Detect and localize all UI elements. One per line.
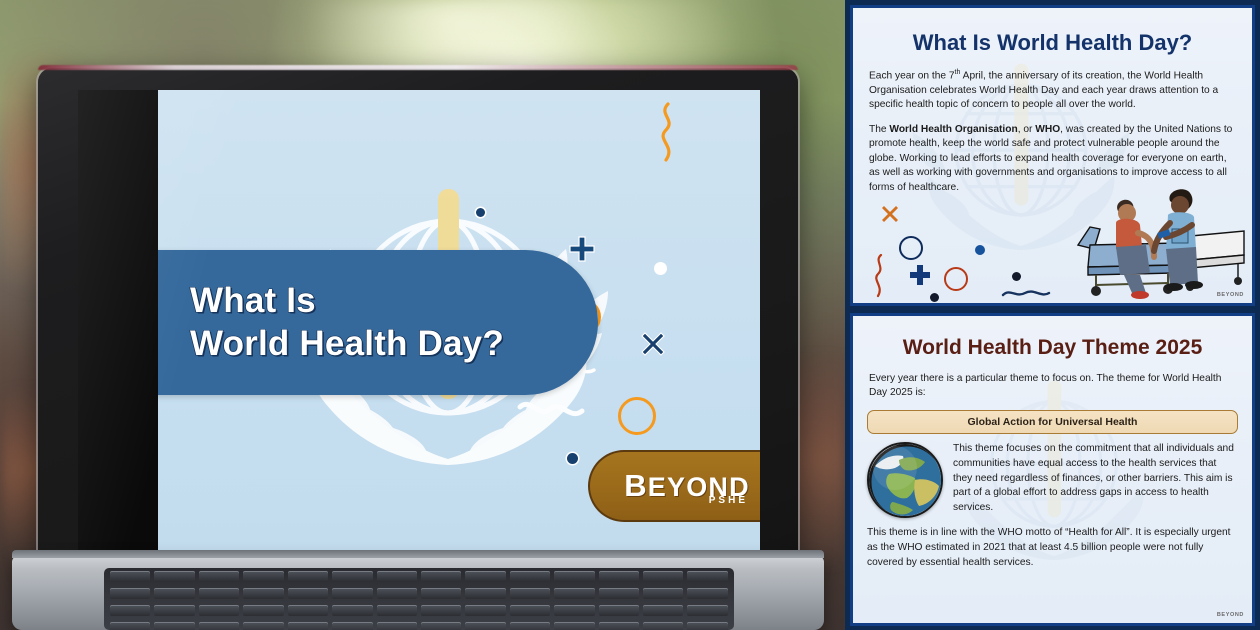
decor-dot-dark-2 [1012,272,1021,281]
keyboard-row [104,619,734,630]
theme-detail-row: This theme focuses on the commitment tha… [853,434,1252,518]
keyboard-key [554,571,594,582]
presentation-slide: What Is World Health Day? BEYOND PSHE [158,90,760,550]
earth-globe-icon [867,442,943,518]
keyboard-key [243,571,283,582]
keyboard-key [288,605,328,616]
keyboard-key [687,605,727,616]
laptop-keyboard [104,568,734,630]
keyboard-key [154,605,194,616]
keyboard-key [154,571,194,582]
slide-preview-what-is-world-health-day[interactable]: What Is World Health Day? Each year on t… [850,5,1255,306]
keyboard-key [465,605,505,616]
keyboard-key [243,605,283,616]
decor-squiggle-red [873,253,887,304]
keyboard-key [643,588,683,599]
keyboard-key [421,622,461,630]
keyboard-key [643,605,683,616]
para2-c: , or [1018,124,1036,135]
decor-dot-mid-blue [975,245,985,255]
keyboard-key [377,588,417,599]
keyboard-key [643,571,683,582]
keyboard-key [332,622,372,630]
keyboard-key [154,588,194,599]
keyboard-key [199,588,239,599]
para1-pre: Each year on the 7 [869,70,955,81]
decor-squiggle-orange [654,102,680,169]
para2-who-abbr: WHO [1035,124,1060,135]
keyboard-key [199,571,239,582]
beyond-logo-bar: BEYOND PSHE [588,450,760,522]
para2-a: The [869,124,889,135]
keyboard-row [104,602,734,619]
laptop-base [12,556,824,630]
screen-left-letterbox [78,90,158,550]
keyboard-key [465,622,505,630]
panel-one-title: What Is World Health Day? [853,30,1252,56]
keyboard-key [421,571,461,582]
keyboard-key [154,622,194,630]
keyboard-key [110,571,150,582]
beyond-logo-subtitle: PSHE [709,495,748,506]
decor-dot-white [654,262,667,275]
keyboard-key [510,605,550,616]
slide-preview-column: What Is World Health Day? Each year on t… [845,0,1260,630]
keyboard-key [288,571,328,582]
keyboard-key [288,588,328,599]
keyboard-key [332,571,372,582]
slide-title: What Is World Health Day? [190,280,504,365]
keyboard-key [421,605,461,616]
keyboard-key [554,605,594,616]
keyboard-key [377,571,417,582]
keyboard-key [332,605,372,616]
beyond-watermark: BEYOND [1217,612,1244,618]
decor-dot-dark [930,293,939,302]
keyboard-key [599,588,639,599]
panel-two-intro: Every year there is a particular theme t… [853,372,1252,401]
slide-preview-world-health-day-theme-2025[interactable]: World Health Day Theme 2025 Every year t… [850,313,1255,626]
keyboard-key [687,588,727,599]
panel-two-intro-text: Every year there is a particular theme t… [869,372,1236,401]
keyboard-key [332,588,372,599]
keyboard-key [687,571,727,582]
keyboard-key [243,588,283,599]
keyboard-key [377,605,417,616]
decor-ring-red [944,267,968,291]
laptop-photo-background: What Is World Health Day? BEYOND PSHE [0,0,845,630]
screenshot-root: What Is World Health Day? BEYOND PSHE [0,0,1260,630]
decor-ring-navy [899,236,923,260]
nurse-and-patient-hospital-bed-illustration [1072,173,1248,301]
panel-two-title: World Health Day Theme 2025 [853,336,1252,360]
keyboard-key [110,622,150,630]
keyboard-key [465,571,505,582]
keyboard-key [421,588,461,599]
keyboard-key [110,605,150,616]
keyboard-key [288,622,328,630]
keyboard-key [243,622,283,630]
keyboard-key [687,622,727,630]
panel-two-closing-text: This theme is in line with the WHO motto… [853,518,1252,570]
keyboard-key [554,622,594,630]
decor-x-orange [880,204,900,229]
decor-plus-darkblue [909,264,931,286]
keyboard-key [510,588,550,599]
keyboard-key [110,588,150,599]
keyboard-key [377,622,417,630]
laptop-lid: What Is World Health Day? BEYOND PSHE [38,68,798,560]
theme-body-text: This theme focuses on the commitment tha… [953,442,1236,516]
keyboard-key [510,571,550,582]
keyboard-row [104,568,734,585]
keyboard-key [599,605,639,616]
beyond-logo-initial: B [624,468,648,503]
theme-banner: Global Action for Universal Health [867,410,1238,434]
slide-title-pill: What Is World Health Day? [158,250,598,395]
keyboard-row [104,585,734,602]
para2-who-full: World Health Organisation [889,124,1017,135]
panel-one-paragraph-1: Each year on the 7th April, the annivers… [869,68,1236,113]
keyboard-key [510,622,550,630]
keyboard-key [465,588,505,599]
keyboard-key [554,588,594,599]
keyboard-key [643,622,683,630]
laptop-screen: What Is World Health Day? BEYOND PSHE [78,90,760,550]
beyond-watermark: BEYOND [1217,292,1244,298]
keyboard-key [199,605,239,616]
keyboard-key [199,622,239,630]
keyboard-key [599,571,639,582]
keyboard-key [599,622,639,630]
decor-wave-navy [1001,286,1051,305]
